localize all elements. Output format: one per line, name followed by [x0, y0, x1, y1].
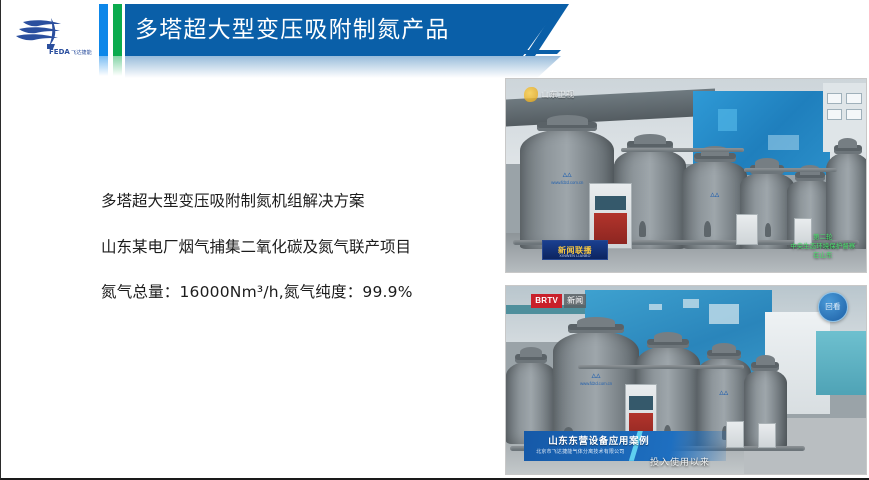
- channel-logo-label: BRTV: [531, 294, 562, 308]
- inspection-line-3: 在山东: [790, 252, 855, 261]
- accent-bar-blue-reflection: [99, 56, 108, 76]
- junction-box: [736, 214, 758, 245]
- slide-canvas: FEDA 飞达捷能 多塔超大型变压吸附制氮产品 多塔超大型变压吸附制氮机组解决方…: [1, 0, 869, 478]
- window: [846, 109, 862, 120]
- broadcaster-watermark: 山东卫视: [524, 87, 575, 102]
- caption-title: 山东东营设备应用案例: [548, 433, 649, 447]
- tower-brand-mark: ▵▵www.fdzd.com.cn: [551, 170, 583, 186]
- accent-bar-blue: [99, 4, 108, 56]
- tower-website: www.fdzd.com.cn: [580, 382, 612, 387]
- junction-box: [758, 423, 776, 447]
- watermark-label: 山东卫视: [541, 89, 575, 100]
- window: [683, 299, 700, 308]
- valve: [704, 221, 711, 237]
- replay-badge: 回看: [818, 292, 848, 322]
- logo-brand-cn: 飞达捷能: [71, 48, 92, 56]
- inspection-line-2: 中央生态环境保护督察: [790, 243, 855, 252]
- control-cabinet: [589, 183, 632, 249]
- window: [827, 93, 843, 104]
- logo-brand-latin: FEDA: [49, 48, 70, 56]
- broadcast-subtitle: 投入使用以来: [650, 455, 710, 468]
- feda-logo: FEDA 飞达捷能: [5, 8, 97, 60]
- tower-brand-mark: ▵▵: [719, 388, 728, 398]
- news-program-sublabel: XINWEN LIANBO: [543, 254, 607, 258]
- process-pipe: [578, 365, 744, 369]
- channel-program-label: 新闻: [564, 294, 586, 308]
- feda-logo-icon: FEDA 飞达捷能: [5, 8, 97, 60]
- tower-website: www.fdzd.com.cn: [551, 181, 583, 186]
- sdtv-logo-icon: [524, 87, 538, 102]
- photo-bottom-scene: ▵▵www.fdzd.com.cn ▵▵ BRTV: [506, 286, 866, 474]
- cabinet-display: [629, 396, 652, 410]
- description-text-block: 多塔超大型变压吸附制氮机组解决方案 山东某电厂烟气捕集二氧化碳及氮气联产项目 氮…: [101, 194, 471, 301]
- description-line-2: 山东某电厂烟气捕集二氧化碳及氮气联产项目: [101, 240, 471, 256]
- description-line-1: 多塔超大型变压吸附制氮机组解决方案: [101, 194, 471, 210]
- accent-bar-green: [113, 4, 122, 56]
- window: [649, 304, 662, 309]
- junction-box: [726, 421, 744, 447]
- tower-brand-mark: ▵▵: [710, 190, 719, 200]
- window: [827, 109, 843, 120]
- slide-header: FEDA 飞达捷能 多塔超大型变压吸附制氮产品: [1, 0, 869, 78]
- process-pipe: [621, 148, 743, 152]
- process-pipe: [744, 168, 838, 172]
- cabinet-panel: [594, 213, 627, 244]
- tower-brand-mark: ▵▵www.fdzd.com.cn: [580, 371, 612, 387]
- window: [709, 304, 739, 324]
- caption-subtitle: 北京市飞达捷能气体分离技术有限公司: [536, 448, 624, 455]
- photo-psa-nitrogen-towers-bottom: ▵▵www.fdzd.com.cn ▵▵ BRTV: [505, 285, 867, 475]
- valve: [765, 223, 771, 237]
- channel-logo: BRTV 新闻: [531, 294, 586, 308]
- news-program-tag: 新闻联播 XINWEN LIANBO: [542, 240, 608, 260]
- cabinet-display: [595, 196, 626, 210]
- teal-building-wall: [816, 331, 867, 395]
- inspection-overlay-text: 第二轮 中央生态环境保护督察 在山东: [790, 234, 855, 260]
- inspection-line-1: 第二轮: [790, 234, 855, 243]
- title-banner-reflection: [125, 56, 561, 78]
- accent-bar-green-reflection: [113, 56, 122, 76]
- description-line-3-specs: 氮气总量：16000Nm³/h,氮气纯度：99.9%: [101, 285, 471, 301]
- photo-psa-nitrogen-towers-top: ▵▵www.fdzd.com.cn ▵▵: [505, 78, 867, 273]
- window: [846, 93, 862, 104]
- photo-top-scene: ▵▵www.fdzd.com.cn ▵▵: [506, 79, 866, 272]
- valve: [639, 221, 646, 237]
- page-title: 多塔超大型变压吸附制氮产品: [135, 4, 450, 56]
